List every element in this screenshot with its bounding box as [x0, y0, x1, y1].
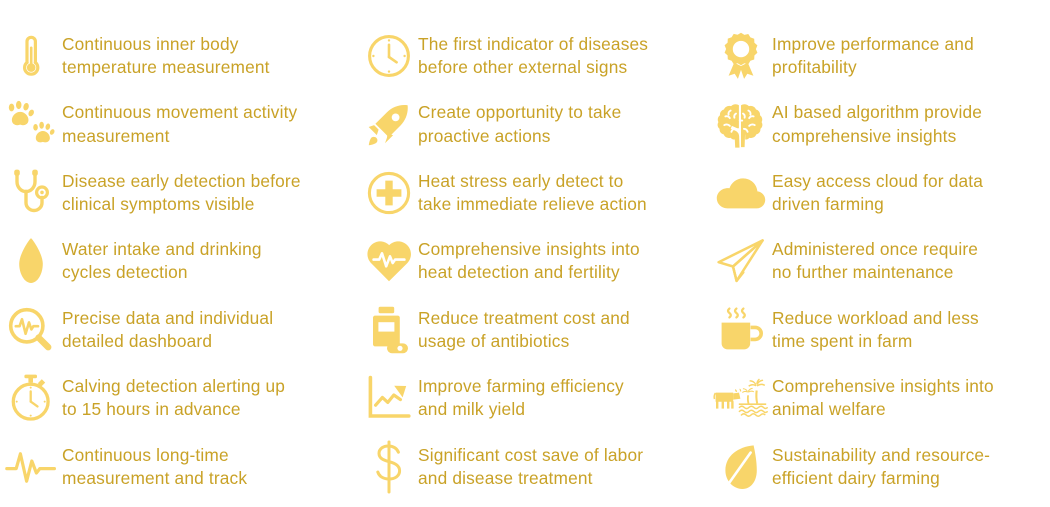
feature-label: AI based algorithm provide comprehensive… — [772, 101, 1042, 147]
feature-item-cloud: Easy access cloud for data driven farmin… — [710, 159, 1050, 227]
leaf-icon — [710, 439, 772, 495]
feature-item-pulse-wave: Continuous long-time measurement and tra… — [0, 433, 360, 501]
feature-item-rocket: Create opportunity to take proactive act… — [360, 90, 710, 158]
feature-item-medicine-bottle: Reduce treatment cost and usage of antib… — [360, 296, 710, 364]
feature-label: Heat stress early detect to take immedia… — [418, 170, 700, 216]
feature-label: The first indicator of diseases before o… — [418, 33, 700, 79]
feature-item-cow-farm: Comprehensive insights into animal welfa… — [710, 364, 1050, 432]
clock-icon — [360, 28, 418, 84]
feature-label: Continuous inner body temperature measur… — [62, 33, 350, 79]
feature-item-growth-chart: Improve farming efficiency and milk yiel… — [360, 364, 710, 432]
feature-item-clock: The first indicator of diseases before o… — [360, 22, 710, 90]
cloud-icon — [710, 165, 772, 221]
feature-label: Administered once require no further mai… — [772, 238, 1042, 284]
cow-farm-icon — [710, 370, 772, 426]
feature-item-magnifier-pulse: Precise data and individual detailed das… — [0, 296, 360, 364]
feature-item-medical-cross: Heat stress early detect to take immedia… — [360, 159, 710, 227]
feature-item-thermometer: Continuous inner body temperature measur… — [0, 22, 360, 90]
feature-label: Comprehensive insights into animal welfa… — [772, 375, 1042, 421]
dollar-sign-icon — [360, 439, 418, 495]
paper-plane-icon — [710, 233, 772, 289]
feature-label: Sustainability and resource- efficient d… — [772, 444, 1042, 490]
feature-item-leaf: Sustainability and resource- efficient d… — [710, 433, 1050, 501]
medicine-bottle-icon — [360, 302, 418, 358]
award-ribbon-icon — [710, 28, 772, 84]
feature-item-stopwatch: Calving detection alerting up to 15 hour… — [0, 364, 360, 432]
feature-label: Create opportunity to take proactive act… — [418, 101, 700, 147]
feature-item-heart-pulse: Comprehensive insights into heat detecti… — [360, 227, 710, 295]
feature-label: Improve farming efficiency and milk yiel… — [418, 375, 700, 421]
feature-label: Disease early detection before clinical … — [62, 170, 350, 216]
feature-item-coffee-mug: Reduce workload and less time spent in f… — [710, 296, 1050, 364]
feature-item-paper-plane: Administered once require no further mai… — [710, 227, 1050, 295]
feature-label: Comprehensive insights into heat detecti… — [418, 238, 700, 284]
medical-cross-icon — [360, 165, 418, 221]
feature-label: Continuous long-time measurement and tra… — [62, 444, 350, 490]
feature-label: Calving detection alerting up to 15 hour… — [62, 375, 350, 421]
feature-label: Improve performance and profitability — [772, 33, 1042, 79]
rocket-icon — [360, 97, 418, 153]
feature-label: Significant cost save of labor and disea… — [418, 444, 700, 490]
feature-label: Easy access cloud for data driven farmin… — [772, 170, 1042, 216]
feature-label: Reduce treatment cost and usage of antib… — [418, 307, 700, 353]
growth-chart-icon — [360, 370, 418, 426]
thermometer-icon — [0, 28, 62, 84]
feature-item-dollar-sign: Significant cost save of labor and disea… — [360, 433, 710, 501]
stopwatch-icon — [0, 370, 62, 426]
water-drop-icon — [0, 233, 62, 289]
heart-pulse-icon — [360, 233, 418, 289]
paw-prints-icon — [0, 97, 62, 153]
coffee-mug-icon — [710, 302, 772, 358]
feature-item-award: Improve performance and profitability — [710, 22, 1050, 90]
feature-grid: Continuous inner body temperature measur… — [0, 0, 1050, 507]
feature-label: Precise data and individual detailed das… — [62, 307, 350, 353]
magnifier-pulse-icon — [0, 302, 62, 358]
feature-label: Reduce workload and less time spent in f… — [772, 307, 1042, 353]
feature-item-stethoscope: Disease early detection before clinical … — [0, 159, 360, 227]
feature-label: Water intake and drinking cycles detecti… — [62, 238, 350, 284]
feature-item-paw-prints: Continuous movement activity measurement — [0, 90, 360, 158]
stethoscope-icon — [0, 165, 62, 221]
feature-item-water-drop: Water intake and drinking cycles detecti… — [0, 227, 360, 295]
brain-icon — [710, 97, 772, 153]
feature-label: Continuous movement activity measurement — [62, 101, 350, 147]
pulse-wave-icon — [0, 439, 62, 495]
feature-item-brain: AI based algorithm provide comprehensive… — [710, 90, 1050, 158]
